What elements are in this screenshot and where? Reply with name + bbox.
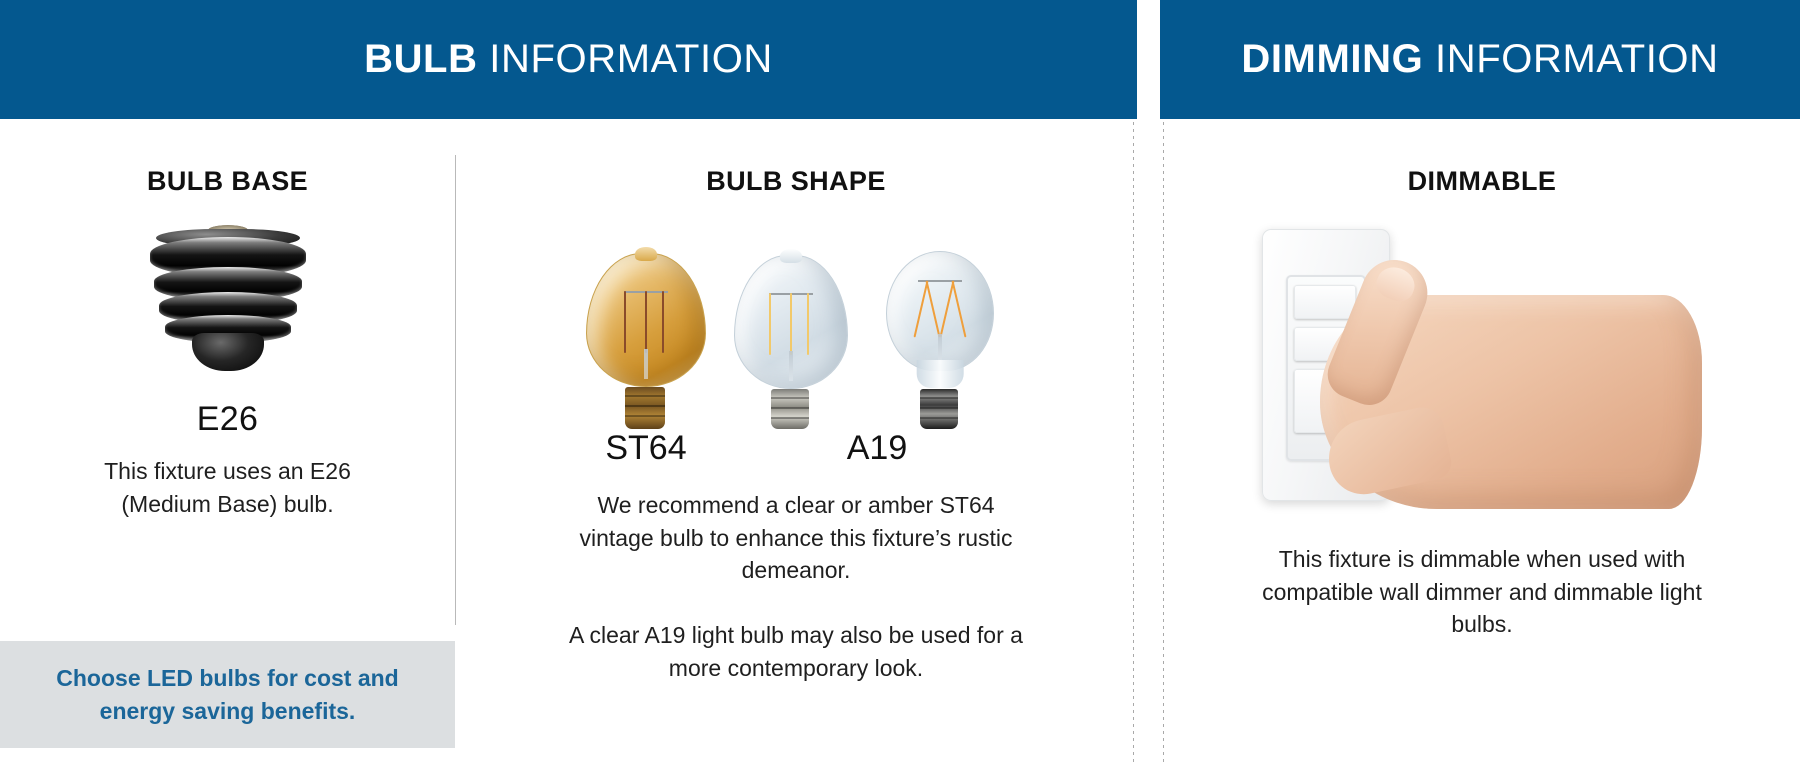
clear-st64-glass-icon: [734, 255, 848, 389]
led-savings-callout-text: Choose LED bulbs for cost and energy sav…: [48, 662, 408, 726]
clear-a19-glass-icon: [886, 251, 994, 371]
clear-a19-bulb-icon: [886, 251, 992, 429]
amber-st64-glass-icon: [586, 253, 706, 387]
clear-st64-filament-icon: [769, 293, 813, 355]
fingernail-icon: [1372, 262, 1419, 306]
bulb-base-heading: BULB BASE: [0, 166, 455, 197]
bulb-information-header: BULB INFORMATION: [0, 0, 1137, 119]
a19-filament-strand-2-icon: [926, 281, 941, 338]
bulb-shape-labels: ST64 A19: [455, 429, 1137, 475]
bulb-shape-images: [586, 219, 1006, 429]
amber-filament-strand-3-icon: [624, 291, 626, 353]
clear-st64-crown-icon: [780, 249, 802, 263]
clear-filament-strand-2-icon: [807, 293, 809, 355]
dimming-column: DIMMABLE This fixture is dimmable when u…: [1164, 119, 1800, 641]
clear-a19-screw-base-icon: [920, 389, 958, 429]
dimming-information-title-rest: INFORMATION: [1423, 37, 1718, 81]
dimming-description: This fixture is dimmable when used with …: [1242, 543, 1722, 641]
bulb-label-a19: A19: [797, 429, 957, 468]
e26-base-icon: [148, 229, 308, 374]
clear-a19-filament-icon: [918, 280, 962, 338]
bulb-shape-column: BULB SHAPE: [455, 119, 1137, 684]
bulb-base-description: This fixture uses an E26 (Medium Base) b…: [63, 455, 393, 520]
clear-filament-strand-3-icon: [769, 293, 771, 355]
clear-filament-stem-icon: [789, 351, 793, 381]
clear-a19-neck-icon: [917, 360, 964, 388]
base-contact-tip-icon: [192, 333, 264, 371]
hand-icon: [1320, 295, 1702, 509]
bulb-shape-paragraph-1: We recommend a clear or amber ST64 vinta…: [561, 489, 1031, 587]
amber-st64-crown-icon: [635, 247, 657, 261]
led-savings-callout: Choose LED bulbs for cost and energy sav…: [0, 641, 455, 748]
clear-filament-strand-1-icon: [790, 293, 792, 355]
bulb-label-st64: ST64: [551, 429, 741, 468]
dimming-information-header: DIMMING INFORMATION: [1160, 0, 1800, 119]
a19-filament-strand-1-icon: [914, 281, 929, 338]
amber-st64-filament-icon: [624, 291, 668, 353]
a19-filament-strand-3-icon: [940, 281, 955, 338]
dimmable-heading: DIMMABLE: [1164, 166, 1800, 197]
clear-st64-screw-base-icon: [771, 389, 809, 429]
bulb-information-title-rest: INFORMATION: [478, 37, 773, 81]
amber-st64-bulb-icon: [586, 253, 704, 429]
bulb-information-title: BULB INFORMATION: [364, 37, 773, 82]
bulb-shape-paragraph-2: A clear A19 light bulb may also be used …: [561, 619, 1031, 684]
thumb-icon: [1322, 403, 1455, 500]
dimming-information-title: DIMMING INFORMATION: [1241, 37, 1718, 82]
amber-filament-stem-icon: [644, 349, 648, 379]
bulb-base-value: E26: [0, 400, 455, 439]
amber-filament-strand-2-icon: [662, 291, 664, 353]
dimmer-paddle-top-icon: [1294, 285, 1356, 319]
wall-dimmer-switch-icon: [1262, 221, 1702, 521]
bulb-shape-heading: BULB SHAPE: [455, 166, 1137, 197]
amber-filament-strand-1-icon: [645, 291, 647, 353]
bulb-information-title-bold: BULB: [364, 37, 478, 81]
clear-st64-bulb-icon: [734, 255, 846, 429]
a19-filament-strand-4-icon: [952, 281, 967, 338]
bulb-base-column: BULB BASE E26 This fixture uses an E26 (…: [0, 119, 455, 520]
amber-st64-screw-base-icon: [625, 387, 665, 429]
infographic-page: BULB INFORMATION DIMMING INFORMATION BUL…: [0, 0, 1800, 765]
dimming-information-title-bold: DIMMING: [1241, 37, 1423, 81]
